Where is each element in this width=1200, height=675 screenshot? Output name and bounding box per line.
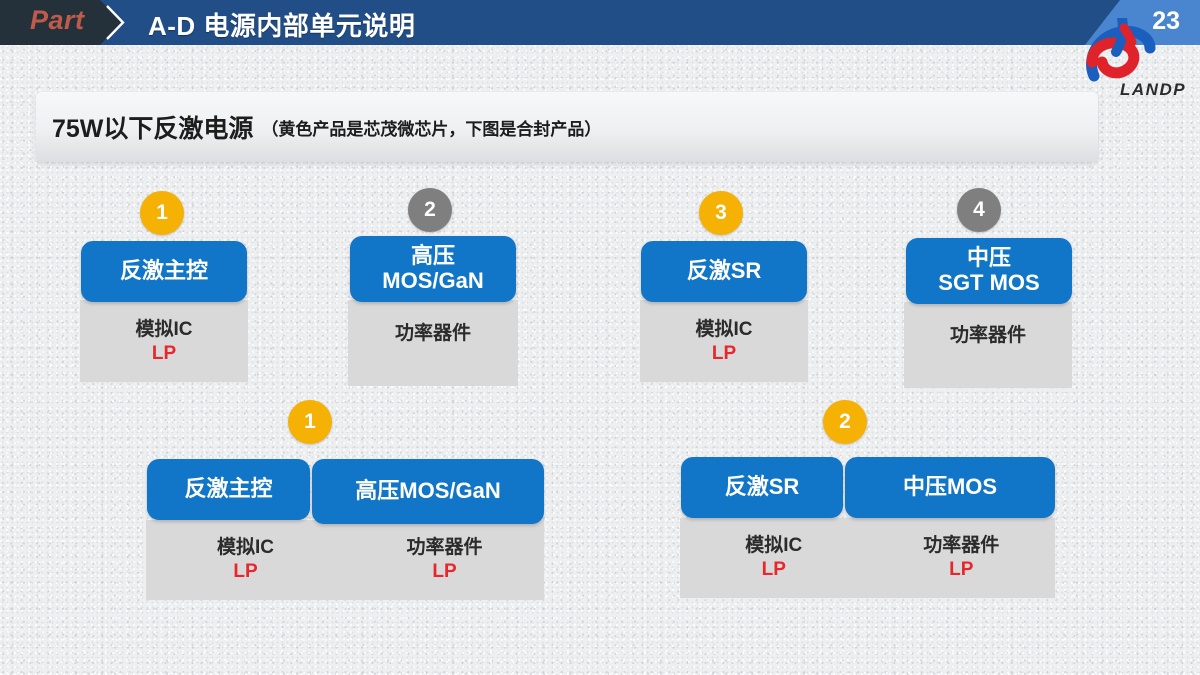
combo-lp-1-2: LP [432,561,456,583]
combo-title-1-2: 高压MOS/GaN [312,459,544,524]
card-title-1: 反激主控 [81,241,247,302]
card-category-1: 模拟IC [135,314,192,341]
card-category-3: 模拟IC [695,314,752,341]
card-badge-4: 4 [957,188,1001,232]
slide-header: Part A-D 电源内部单元说明 23 [0,0,1200,45]
chevron-right-icon [103,0,129,45]
card-body-2: 功率器件 [348,300,518,386]
combo-badge-2: 2 [823,400,867,444]
card-title-2: 高压 MOS/GaN [350,236,516,302]
card-body-1: 模拟IC LP [80,300,248,382]
card-badge-3: 3 [699,191,743,235]
card-title-4-line1: 中压 [967,246,1011,271]
combo-cell-2-1: 模拟IC LP [680,530,868,598]
card-body-3: 模拟IC LP [640,300,808,382]
combo-title-1-1: 反激主控 [147,459,310,520]
combo-body-1: 模拟IC LP 功率器件 LP [146,520,544,600]
landp-logo: LANDP [1076,18,1196,110]
landp-mark-icon [1076,18,1196,88]
subtitle-main-text: 75W以下反激电源 [52,109,253,145]
combo-title-2-1: 反激SR [681,457,843,518]
card-badge-1: 1 [140,191,184,235]
card-title-2-line2: MOS/GaN [382,269,483,294]
landp-wordmark: LANDP [1120,80,1186,100]
card-title-4-line2: SGT MOS [938,271,1039,296]
combo-category-1-1: 模拟IC [217,532,274,559]
combo-category-2-1: 模拟IC [745,530,802,557]
page-title: A-D 电源内部单元说明 [148,6,415,43]
combo-badge-1: 1 [288,400,332,444]
card-title-3: 反激SR [641,241,807,302]
combo-category-2-2: 功率器件 [923,530,999,557]
card-title-4: 中压 SGT MOS [906,238,1072,304]
card-lp-3: LP [712,343,736,365]
card-body-4: 功率器件 [904,302,1072,388]
combo-lp-1-1: LP [233,561,257,583]
card-category-2: 功率器件 [395,318,471,345]
combo-cell-1-2: 功率器件 LP [345,532,544,600]
card-lp-1: LP [152,343,176,365]
card-badge-2: 2 [408,188,452,232]
combo-body-2: 模拟IC LP 功率器件 LP [680,518,1055,598]
subtitle-note-text: （黄色产品是芯茂微芯片，下图是合封产品） [261,115,601,140]
combo-category-1-2: 功率器件 [406,532,482,559]
combo-title-2-2: 中压MOS [845,457,1055,518]
combo-cell-1-1: 模拟IC LP [146,532,345,600]
combo-cell-2-2: 功率器件 LP [868,530,1056,598]
combo-lp-2-1: LP [762,559,786,581]
card-title-2-line1: 高压 [411,244,455,269]
header-part-label: Part [30,5,85,36]
subtitle-panel: 75W以下反激电源 （黄色产品是芯茂微芯片，下图是合封产品） [36,92,1098,162]
combo-lp-2-2: LP [949,559,973,581]
card-category-4: 功率器件 [950,320,1026,347]
